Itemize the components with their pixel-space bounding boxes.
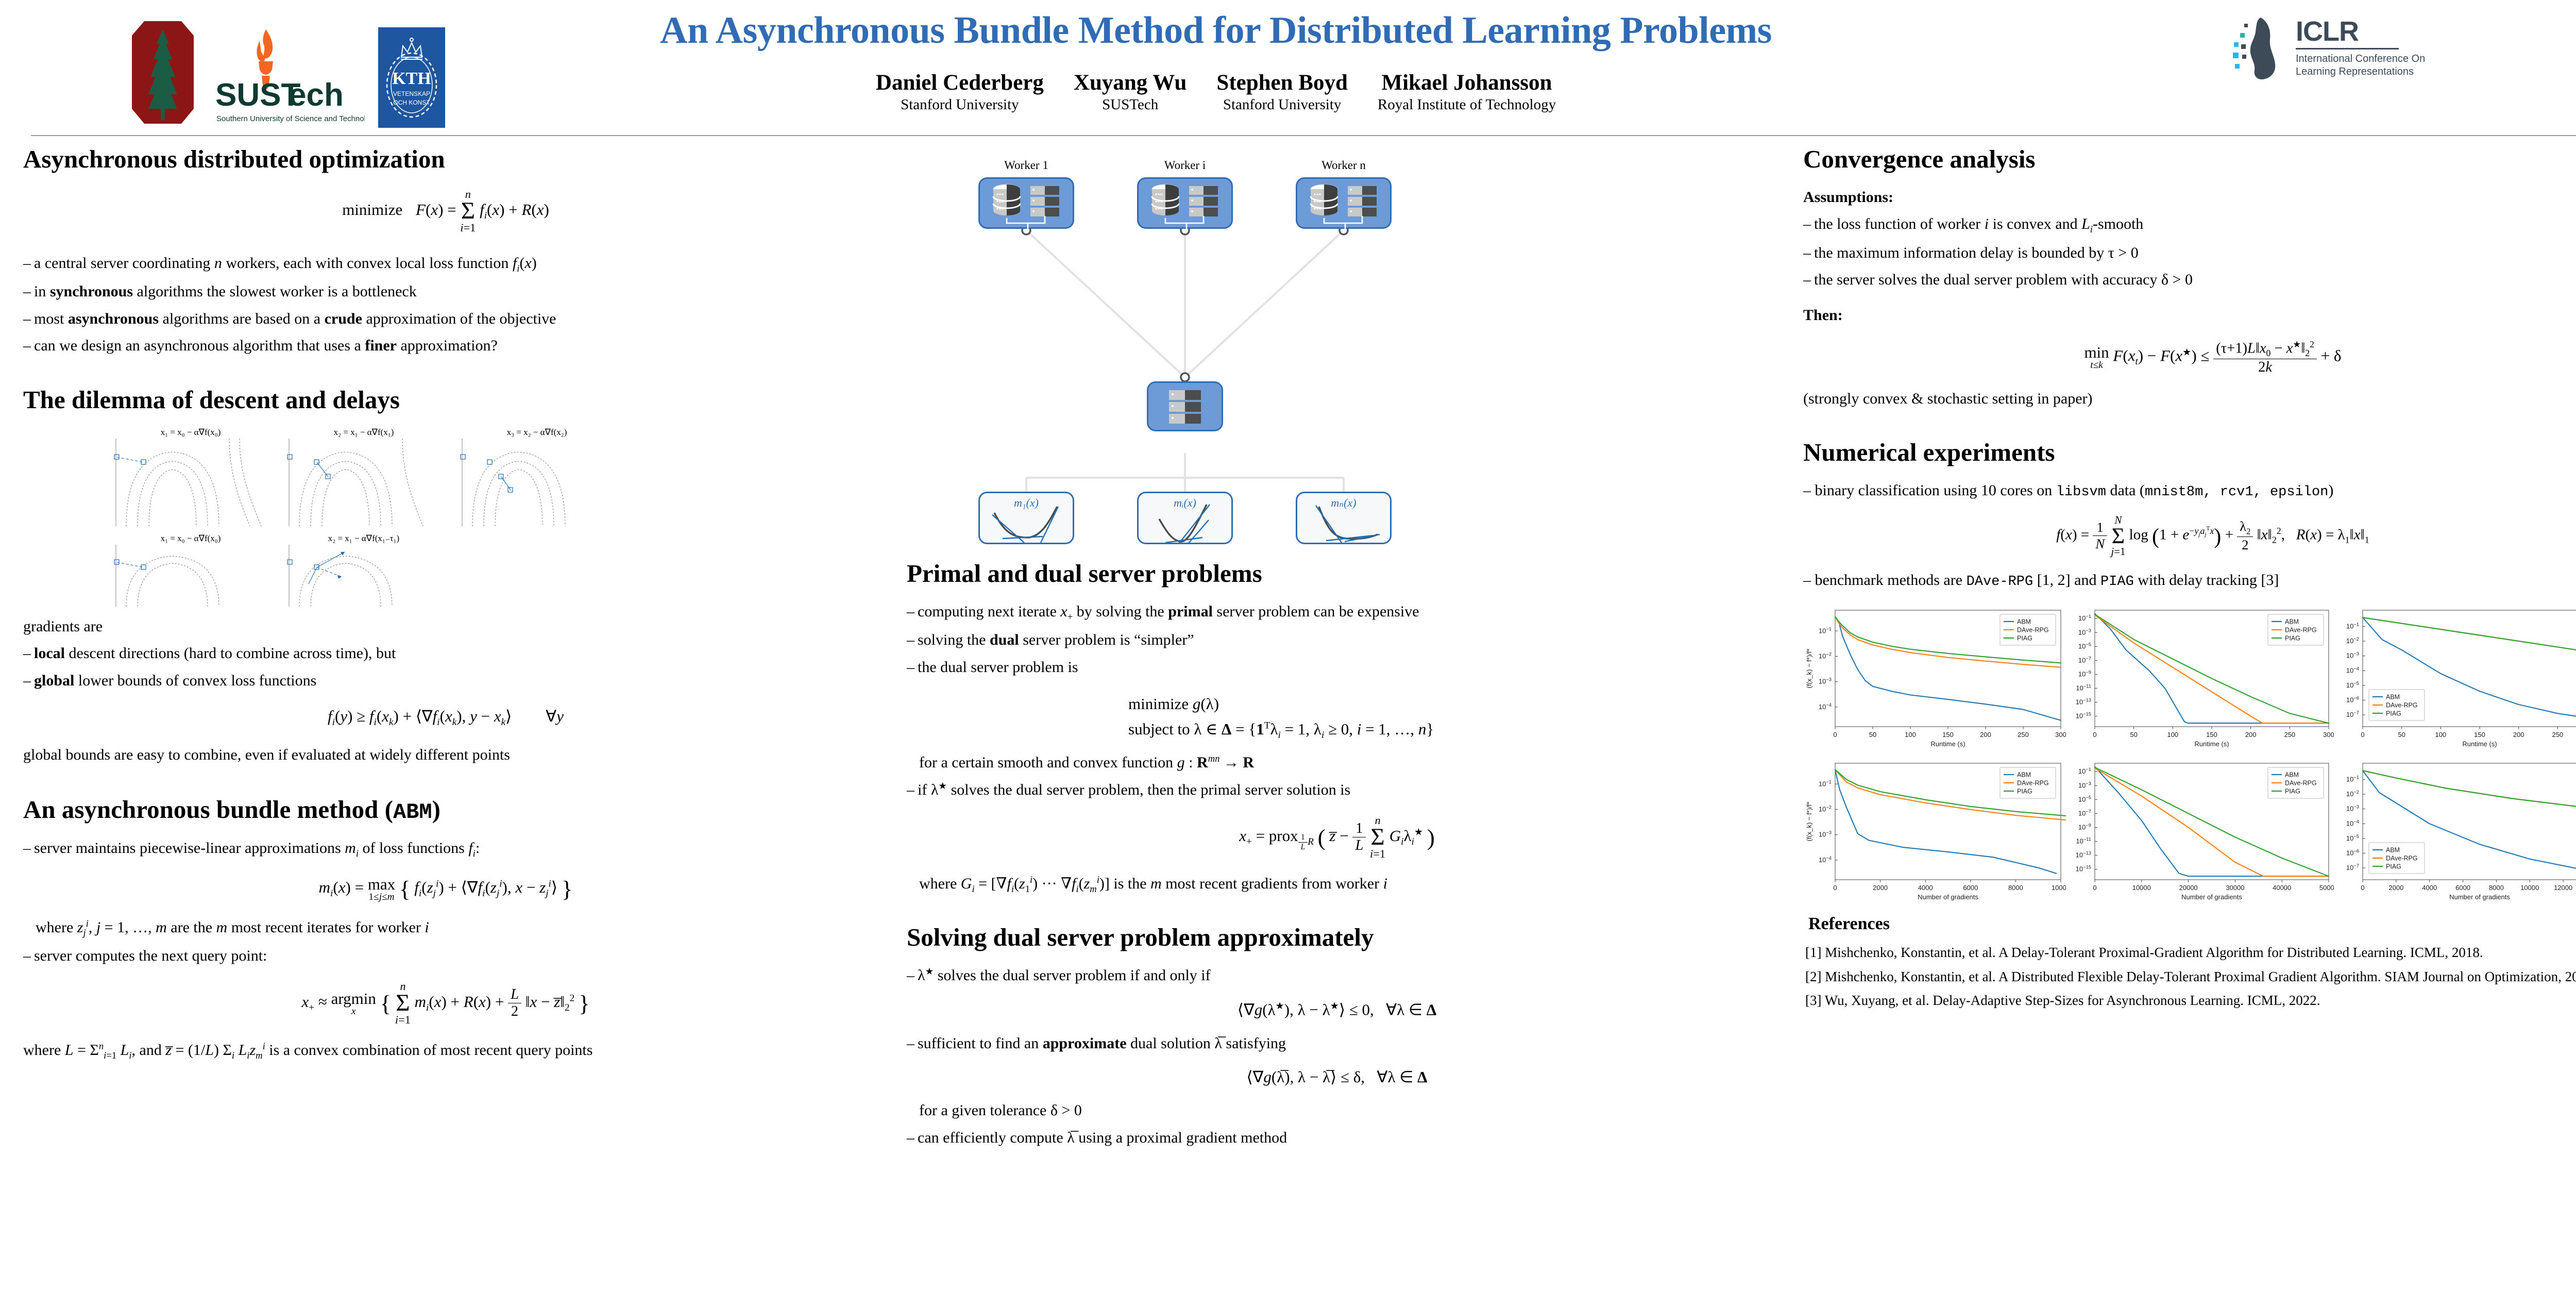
iclr-wordmark: ICLR (2296, 18, 2425, 45)
bullet-binary-classification: – binary classification using 10 cores o… (1803, 480, 2576, 502)
bullet-server-maintains: – server maintains piecewise-linear appr… (23, 837, 868, 861)
kth-motto-2: OCH KONST (393, 99, 430, 106)
svg-text:10000: 10000 (2520, 884, 2539, 892)
page-title: An Asynchronous Bundle Method for Distri… (577, 5, 1855, 49)
model-box-n[interactable]: mₙ(x) (1296, 492, 1392, 544)
reference-item: [1] Mishchenko, Konstantin, et al. A Del… (1805, 943, 2576, 962)
author-list: Daniel Cederberg Stanford University Xuy… (577, 71, 1855, 114)
bullet-primal-expensive: – computing next iterate x+ by solving t… (907, 601, 1767, 624)
author-entry: Daniel Cederberg Stanford University (876, 71, 1044, 114)
chart-row-gradients: 10−110−210−310−40200040006000800010000Nu… (1803, 758, 2576, 905)
equation-dual-problem: minimize g(λ) subject to λ ∈ Δ = {1Tλi =… (1128, 692, 1767, 743)
svg-text:DAve-RPG: DAve-RPG (2285, 780, 2317, 787)
svg-text:50: 50 (2398, 731, 2405, 739)
svg-text:PIAG: PIAG (2017, 788, 2032, 795)
svg-text:100: 100 (2435, 731, 2446, 739)
svg-text:ABM: ABM (2386, 694, 2400, 701)
svg-text:PIAG: PIAG (2285, 635, 2300, 642)
svg-text:Runtime (s): Runtime (s) (2194, 740, 2229, 748)
model-box-i[interactable]: mᵢ(x) (1137, 492, 1233, 544)
label-assumptions: Assumptions: (1803, 187, 2576, 209)
experiment-charts: 10−110−210−310−4050100150200250300Runtim… (1803, 605, 2576, 905)
bullet-approximate-dual: – sufficient to find an approximate dual… (907, 1033, 1767, 1055)
svg-text:ABM: ABM (2017, 771, 2031, 779)
iclr-mark-icon (2231, 14, 2287, 81)
label-then: Then: (1803, 305, 2576, 327)
bullet-benchmark-pre: – benchmark methods are (1803, 572, 1967, 589)
bullet-benchmark-post: with delay tracking [3] (2134, 572, 2279, 589)
section-heading-convergence: Convergence analysis (1803, 145, 2576, 173)
svg-text:4000: 4000 (2422, 884, 2437, 892)
equation-next-query-point: x+ ≈ argminx { nΣi=1 mi(x) + R(x) + L2 ‖… (23, 981, 868, 1026)
text-where-z: where zji, j = 1, …, m are the m most re… (36, 917, 868, 940)
author-affiliation: Stanford University (1216, 96, 1348, 114)
svg-text:DAve-RPG: DAve-RPG (2285, 627, 2317, 634)
svg-text:Number of gradients: Number of gradients (2449, 893, 2510, 901)
bullet-optimality-iff: – λ★ solves the dual server problem if a… (907, 965, 1767, 987)
contour-plot (111, 545, 270, 607)
column-left: Asynchronous distributed optimization mi… (23, 145, 868, 1068)
title-block: An Asynchronous Bundle Method for Distri… (577, 5, 1855, 114)
chart-row-runtime: 10−110−210−310−4050100150200250300Runtim… (1803, 605, 2576, 752)
text-given-tolerance: for a given tolerance δ > 0 (919, 1100, 1767, 1122)
equation-approximate-condition: ⟨∇g(λ̅), λ − λ̅⟩ ≤ δ, ∀λ ∈ Δ (907, 1068, 1767, 1086)
contour-cell: x₂ = x₁ − α∇f(x₁) (284, 427, 444, 526)
svg-text:2000: 2000 (2388, 884, 2403, 892)
bullet-central-server: – a central server coordinating n worker… (23, 253, 868, 276)
chart-runtime-epsilon: 10−110−210−310−410−510−610−7050100150200… (2339, 605, 2576, 752)
contour-figure: x₁ = x₀ − α∇f(x₀) (111, 427, 626, 607)
svg-text:20000: 20000 (2179, 884, 2198, 892)
svg-text:150: 150 (2474, 731, 2485, 739)
svg-text:DAve-RPG: DAve-RPG (2017, 780, 2049, 787)
contour-caption: x₂ = x₁ − α∇f(x₁) (284, 427, 444, 438)
sustech-logo: SUST ech Southern University of Science … (210, 27, 365, 128)
chart-runtime-mnist8m: 10−110−210−310−4050100150200250300Runtim… (1803, 605, 2066, 752)
author-name: Mikael Johansson (1378, 71, 1556, 94)
svg-text:PIAG: PIAG (2017, 635, 2032, 642)
svg-text:2000: 2000 (1873, 884, 1888, 892)
author-name: Stephen Boyd (1216, 71, 1348, 94)
svg-text:Number of gradients: Number of gradients (1918, 893, 1978, 901)
model-box-1[interactable]: m₁(x) (978, 492, 1074, 544)
text-global-bounds-combine: global bounds are easy to combine, even … (23, 744, 868, 766)
author-entry: Stephen Boyd Stanford University (1216, 71, 1348, 114)
contour-plot (284, 545, 444, 607)
contour-row-bottom: x₁ = x₀ − α∇f(x₀) (111, 533, 626, 607)
section-heading-async-distributed-optimization: Asynchronous distributed optimization (23, 145, 868, 173)
section-heading-primal-dual: Primal and dual server problems (907, 560, 1767, 588)
bullet-dual-simpler: – solving the dual server problem is “si… (907, 629, 1767, 651)
contour-cell: x₁ = x₀ − α∇f(x₀) (111, 533, 270, 607)
contour-plot (111, 439, 270, 526)
equation-dual-objective: minimize g(λ) (1128, 692, 1767, 716)
svg-text:100: 100 (2167, 731, 2178, 739)
svg-text:50000: 50000 (2319, 884, 2334, 892)
author-entry: Xuyang Wu SUSTech (1074, 71, 1187, 114)
kth-wordmark: KTH (392, 69, 431, 88)
poster-root: SUST ech Southern University of Science … (0, 0, 2576, 1292)
svg-text:(f(x_k) − f*)/f*: (f(x_k) − f*)/f* (1805, 649, 1813, 689)
svg-text:Runtime (s): Runtime (s) (2462, 740, 2497, 748)
equation-model-max: mi(x) = max1≤j≤m { fi(zji) + ⟨∇fi(zji), … (23, 876, 868, 902)
equation-dual-constraint: subject to λ ∈ Δ = {1Tλi = 1, λi ≥ 0, i … (1128, 717, 1767, 743)
benchmark-piag: PIAG (2100, 574, 2134, 590)
bullet-proximal-gradient: – can efficiently compute λ̅ using a pro… (907, 1127, 1767, 1149)
header-divider (31, 135, 2576, 136)
column-right: Convergence analysis Assumptions: – the … (1803, 145, 2576, 1015)
dataset-names: mnist8m, rcv1, epsilon (2145, 484, 2328, 500)
equation-objective: minimize F(x) = nΣi=1 fi(x) + R(x) (23, 189, 868, 234)
column-middle: Worker 1 Worker i Worker n (907, 145, 1767, 1154)
assumption-dual-accuracy: – the server solves the dual server prob… (1803, 269, 2576, 291)
text-where-G: where Gi = [∇fi(z1i) ··· ∇fi(zmi)] is th… (919, 873, 1767, 896)
assumption-delay-bounded: – the maximum information delay is bound… (1803, 242, 2576, 264)
text-smooth-convex-g: for a certain smooth and convex function… (919, 752, 1767, 774)
svg-text:PIAG: PIAG (2285, 788, 2300, 795)
chart-gradients-mnist8m: 10−110−210−310−40200040006000800010000Nu… (1803, 758, 2066, 905)
kth-logo: KTH VETENSKAP OCH KONST (378, 27, 445, 128)
bullet-binary-post: ) (2328, 482, 2333, 499)
contour-caption: x₂ = x₁ − α∇f(x₁₋τ₁) (284, 533, 444, 544)
author-affiliation: SUSTech (1074, 96, 1187, 114)
contour-caption: x₁ = x₀ − α∇f(x₀) (111, 533, 270, 544)
svg-text:0: 0 (2361, 731, 2364, 739)
svg-text:ABM: ABM (2285, 771, 2299, 779)
benchmark-dave-rpg: DAve-RPG (1967, 574, 2033, 590)
contour-row-top: x₁ = x₀ − α∇f(x₀) (111, 427, 626, 526)
chart-runtime-rcv1: 10−110−310−510−710−910−1110−1310−1505010… (2071, 605, 2334, 752)
kth-motto-1: VETENSKAP (393, 90, 430, 97)
bullet-asynchronous-crude: – most asynchronous algorithms are based… (23, 308, 868, 330)
bullet-local-descent: – local descent directions (hard to comb… (23, 643, 868, 665)
contour-plot (284, 439, 444, 526)
svg-text:DAve-RPG: DAve-RPG (2386, 702, 2418, 709)
svg-text:200: 200 (2513, 731, 2524, 739)
bullet-lambda-star-solves: – if λ★ solves the dual server problem, … (907, 779, 1767, 801)
svg-text:Number of gradients: Number of gradients (2181, 893, 2242, 901)
section-heading-numerical-experiments: Numerical experiments (1803, 439, 2576, 466)
contour-cell: x₁ = x₀ − α∇f(x₀) (111, 427, 270, 526)
svg-text:4000: 4000 (1918, 884, 1933, 892)
bullet-binary-pre: – binary classification using 10 cores o… (1803, 482, 2056, 499)
server-rack-icon (1030, 186, 1059, 216)
section-heading-abm: An asynchronous bundle method (ABM) (23, 796, 868, 824)
bullet-finer-approx: – can we design an asynchronous algorith… (23, 335, 868, 357)
bullet-binary-mid: data ( (2106, 482, 2145, 499)
svg-text:0: 0 (2093, 884, 2096, 892)
iclr-divider (2296, 48, 2399, 49)
section-heading-dilemma: The dilemma of descent and delays (23, 386, 868, 414)
svg-text:200: 200 (2245, 731, 2257, 739)
contour-caption: x₃ = x₂ − α∇f(x₂) (457, 427, 617, 438)
svg-text:PIAG: PIAG (2386, 710, 2401, 717)
database-icon (993, 184, 1020, 215)
svg-text:DAve-RPG: DAve-RPG (2386, 855, 2418, 862)
contour-cell: x₂ = x₁ − α∇f(x₁₋τ₁) (284, 533, 444, 607)
bullet-benchmark-mid: [1, 2] and (2033, 572, 2100, 589)
worker-label-i: Worker i (1133, 159, 1236, 172)
svg-text:ech: ech (289, 77, 344, 113)
author-name: Xuyang Wu (1074, 71, 1187, 94)
equation-optimality-condition: ⟨∇g(λ★), λ − λ★⟩ ≤ 0, ∀λ ∈ Δ (907, 1000, 1767, 1019)
reference-item: [2] Mishchenko, Konstantin, et al. A Dis… (1805, 967, 2576, 986)
svg-text:ABM: ABM (2386, 847, 2400, 854)
assumption-convex-smooth: – the loss function of worker i is conve… (1803, 213, 2576, 237)
iclr-logo: ICLR International Conference On Learnin… (2231, 14, 2425, 81)
svg-text:0: 0 (2361, 884, 2364, 892)
svg-text:50: 50 (2130, 731, 2137, 739)
stanford-logo (129, 17, 197, 128)
worker-label-n: Worker n (1292, 159, 1395, 172)
svg-text:100: 100 (1905, 731, 1916, 739)
svg-text:0: 0 (1833, 731, 1837, 739)
svg-text:8000: 8000 (2489, 884, 2504, 892)
equation-convex-lower-bound: fi(y) ≥ fi(xk) + ⟨∇fi(xk), y − xk⟩ ∀y (23, 707, 868, 728)
svg-text:150: 150 (2206, 731, 2217, 739)
svg-text:40000: 40000 (2273, 884, 2291, 892)
bullet-next-query-point: – server computes the next query point: (23, 945, 868, 967)
server-rack-icon (1189, 186, 1218, 216)
svg-text:6000: 6000 (2455, 884, 2470, 892)
svg-text:ABM: ABM (2285, 618, 2299, 626)
database-icon (1311, 184, 1337, 215)
bullet-dual-problem-is: – the dual server problem is (907, 657, 1767, 679)
reference-item: [3] Wu, Xuyang, et al. Delay-Adaptive St… (1805, 991, 2576, 1010)
author-entry: Mikael Johansson Royal Institute of Tech… (1378, 71, 1556, 114)
worker-node-n[interactable] (1296, 177, 1392, 229)
database-icon (1152, 184, 1179, 215)
text-where-L: where L = Σni=1 Li, and z̅ = (1/L) Σi Li… (23, 1039, 868, 1063)
svg-text:DAve-RPG: DAve-RPG (2017, 627, 2049, 634)
central-server-node[interactable] (1147, 381, 1223, 431)
author-name: Daniel Cederberg (876, 71, 1044, 94)
equation-primal-solution: x+ = prox1LR ( z̅ − 1L nΣi=1 Giλi★ ) (907, 815, 1767, 860)
author-affiliation: Royal Institute of Technology (1378, 96, 1556, 114)
svg-text:50: 50 (1869, 731, 1876, 739)
svg-text:250: 250 (2552, 731, 2563, 739)
author-affiliation: Stanford University (876, 96, 1044, 114)
server-rack-icon (1169, 390, 1201, 424)
worker-node-i[interactable] (1137, 177, 1233, 229)
svg-text:6000: 6000 (1963, 884, 1978, 892)
svg-text:150: 150 (1942, 731, 1954, 739)
iclr-subtitle-1: International Conference On (2296, 53, 2425, 65)
contour-cell: x₃ = x₂ − α∇f(x₂) (457, 427, 617, 526)
svg-text:12000: 12000 (2554, 884, 2572, 892)
poster-columns: Asynchronous distributed optimization mi… (0, 145, 2576, 1284)
system-architecture-diagram: Worker 1 Worker i Worker n (948, 145, 1654, 552)
iclr-subtitle-2: Learning Representations (2296, 65, 2425, 78)
svg-text:ABM: ABM (2017, 618, 2031, 626)
svg-text:10000: 10000 (2052, 884, 2066, 892)
svg-text:Runtime (s): Runtime (s) (1930, 740, 1965, 748)
dataset-lib-name: libsvm (2056, 484, 2106, 500)
svg-text:0: 0 (2093, 731, 2096, 739)
text-gradients-are: gradients are (23, 616, 868, 638)
sustech-wordmark: SUST (215, 77, 300, 113)
contour-caption: x₁ = x₀ − α∇f(x₀) (111, 427, 270, 438)
svg-text:200: 200 (1980, 731, 1991, 739)
text-strongly-convex-note: (strongly convex & stochastic setting in… (1803, 388, 2576, 410)
chart-gradients-rcv1: 10−110−310−510−710−910−1110−1310−1501000… (2071, 758, 2334, 905)
svg-text:250: 250 (2018, 731, 2029, 739)
abm-acronym: ABM (393, 800, 432, 825)
svg-text:300: 300 (2323, 731, 2334, 739)
bullet-global-lower-bounds: – global lower bounds of convex loss fun… (23, 670, 868, 692)
section-heading-solving-dual: Solving dual server problem approximatel… (907, 924, 1767, 951)
svg-text:10000: 10000 (2132, 884, 2151, 892)
references-heading: References (1808, 914, 2576, 934)
svg-text:250: 250 (2284, 731, 2295, 739)
svg-text:0: 0 (1833, 884, 1837, 892)
svg-text:PIAG: PIAG (2386, 863, 2401, 870)
sustech-tagline: Southern University of Science and Techn… (216, 114, 365, 123)
svg-text:8000: 8000 (2008, 884, 2023, 892)
chart-gradients-epsilon: 10−110−210−310−410−510−610−7020004000600… (2339, 758, 2576, 905)
equation-convergence-bound: mint≤k F(xt) − F(x★) ≤ (τ+1)L‖x0 − x★‖22… (1803, 339, 2576, 376)
bullet-synchronous: – in synchronous algorithms the slowest … (23, 281, 868, 303)
svg-text:300: 300 (2055, 731, 2066, 739)
institution-logos: SUST ech Southern University of Science … (129, 9, 445, 128)
svg-text:30000: 30000 (2226, 884, 2244, 892)
equation-logistic-loss: f(x) = 1N NΣj=1 log (1 + e−yjajTx) + λ22… (1803, 515, 2576, 557)
worker-label-1: Worker 1 (975, 159, 1078, 172)
server-rack-icon (1348, 186, 1377, 216)
contour-plot (457, 439, 617, 526)
poster-header: SUST ech Southern University of Science … (0, 0, 2576, 135)
svg-text:(f(x_k) − f*)/f*: (f(x_k) − f*)/f* (1805, 802, 1813, 842)
bullet-benchmark-methods: – benchmark methods are DAve-RPG [1, 2] … (1803, 569, 2576, 592)
worker-node-1[interactable] (978, 177, 1074, 229)
